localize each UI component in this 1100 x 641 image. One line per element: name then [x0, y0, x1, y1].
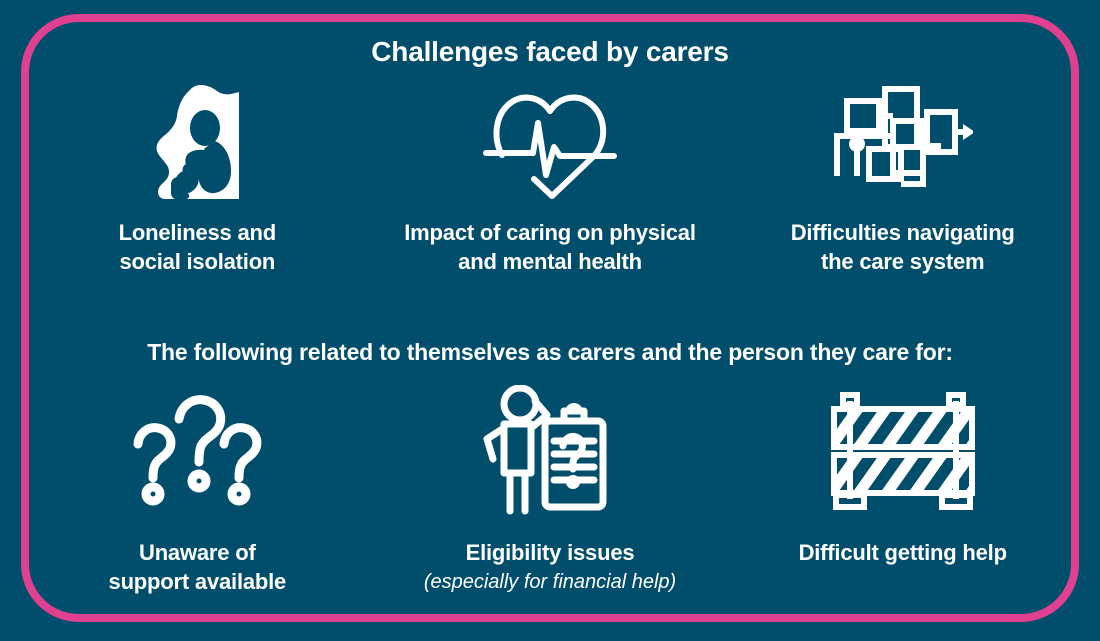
challenge-caption-navigating-system: Difficulties navigating the care system: [791, 218, 1015, 277]
challenge-card-eligibility: Eligibility issues (especially for finan…: [374, 386, 727, 595]
challenge-card-loneliness: Loneliness and social isolation: [21, 82, 374, 277]
challenge-card-unaware: Unaware of support available: [21, 386, 374, 597]
challenge-card-health-impact: Impact of caring on physical and mental …: [374, 82, 727, 277]
challenges-row-top: Loneliness and social isolation: [21, 82, 1079, 277]
challenge-caption-health-impact: Impact of caring on physical and mental …: [404, 218, 695, 277]
confused-person-clipboard-icon: [475, 386, 625, 516]
infographic-content: Challenges faced by carers: [21, 14, 1079, 622]
page-title: Challenges faced by carers: [21, 36, 1079, 68]
challenge-card-navigating-system: Difficulties navigating the care system: [726, 82, 1079, 277]
lonely-person-icon: [143, 82, 251, 202]
maze-navigation-icon: [833, 82, 973, 202]
challenge-card-difficult-help: Difficult getting help: [726, 386, 1079, 567]
road-barrier-icon: [822, 386, 984, 516]
heart-heartbeat-icon: [480, 82, 620, 202]
challenge-caption-unaware: Unaware of support available: [109, 538, 287, 597]
challenge-subcaption-eligibility: (especially for financial help): [424, 569, 676, 595]
section-subheading: The following related to themselves as c…: [21, 339, 1079, 366]
challenge-caption-eligibility: Eligibility issues: [466, 538, 635, 567]
infographic-canvas: Challenges faced by carers: [0, 0, 1100, 641]
challenge-caption-difficult-help: Difficult getting help: [799, 538, 1007, 567]
challenge-caption-loneliness: Loneliness and social isolation: [119, 218, 276, 277]
three-question-marks-icon: [122, 386, 272, 516]
challenges-row-bottom: Unaware of support available: [21, 386, 1079, 597]
